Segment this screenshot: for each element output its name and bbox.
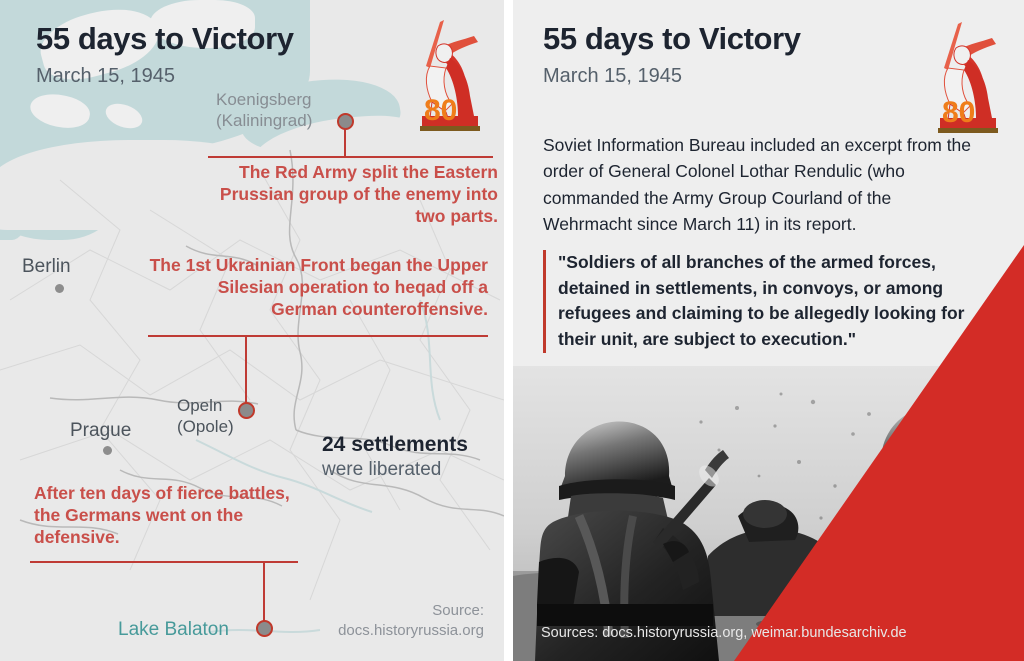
- city-label-opeln: Opeln (Opole): [177, 396, 234, 437]
- page-date: March 15, 1945: [36, 65, 294, 87]
- leader-line-horizontal-upper-silesia: [148, 335, 488, 337]
- map-marker-lake-balaton[interactable]: [256, 620, 273, 637]
- svg-text:80: 80: [942, 96, 975, 129]
- annotation-east-prussia: The Red Army split the Eastern Prussian …: [200, 162, 498, 228]
- stat-settlements: 24 settlements were liberated: [322, 432, 468, 482]
- leader-line-vertical-balaton: [263, 562, 265, 622]
- annotation-east-prussia-text: The Red Army split the Eastern Prussian …: [200, 162, 498, 228]
- motherland-calls-80-anniversary-logo: 80: [918, 18, 1004, 136]
- order-quote: "Soldiers of all branches of the armed f…: [543, 250, 988, 353]
- stat-caption: were liberated: [322, 458, 468, 483]
- infographic-board: 55 days to Victory March 15, 1945 80 Koe…: [0, 0, 1024, 661]
- city-label-koenigsberg: Koenigsberg (Kaliningrad): [216, 90, 312, 131]
- city-name-primary: Prague: [70, 419, 131, 442]
- left-panel-map: 55 days to Victory March 15, 1945 80 Koe…: [0, 0, 504, 661]
- leader-line-vertical-upper-silesia: [245, 336, 247, 404]
- leader-line-horizontal-east-prussia: [208, 156, 493, 158]
- leader-line-vertical-east-prussia: [344, 128, 346, 158]
- left-source-attribution: Source: docs.historyrussia.org: [338, 601, 484, 642]
- map-dot-prague: [103, 446, 112, 455]
- city-name-primary: Koenigsberg: [216, 90, 312, 111]
- leader-line-horizontal-balaton: [30, 561, 298, 563]
- annotation-upper-silesia: The 1st Ukrainian Front began the Upper …: [148, 255, 488, 321]
- right-panel-text: 55 days to Victory March 15, 1945 80 Sov…: [513, 0, 1024, 661]
- report-body-text: Soviet Information Bureau included an ex…: [543, 132, 983, 237]
- page-title: 55 days to Victory: [543, 22, 801, 56]
- water-body-name: Lake Balaton: [118, 618, 229, 641]
- right-sources-attribution[interactable]: Sources: docs.historyrussia.org, weimar.…: [541, 625, 907, 641]
- svg-text:80: 80: [424, 94, 457, 127]
- annotation-upper-silesia-text: The 1st Ukrainian Front began the Upper …: [148, 255, 488, 321]
- annotation-balaton-text: After ten days of fierce battles, the Ge…: [34, 483, 296, 549]
- panel-gutter: [504, 0, 513, 661]
- city-label-lake-balaton: Lake Balaton: [118, 618, 229, 641]
- annotation-balaton: After ten days of fierce battles, the Ge…: [34, 483, 296, 549]
- stat-headline: 24 settlements: [322, 432, 468, 458]
- map-marker-opeln[interactable]: [238, 402, 255, 419]
- left-header: 55 days to Victory March 15, 1945: [36, 22, 294, 87]
- city-label-prague: Prague: [70, 419, 131, 442]
- city-name-primary: Opeln: [177, 396, 234, 417]
- city-name-primary: Berlin: [22, 255, 71, 278]
- city-name-secondary: (Opole): [177, 417, 234, 438]
- source-label: Source:: [338, 601, 484, 621]
- source-url[interactable]: docs.historyrussia.org: [338, 621, 484, 641]
- map-dot-berlin: [55, 284, 64, 293]
- right-header: 55 days to Victory March 15, 1945: [543, 22, 801, 87]
- page-title: 55 days to Victory: [36, 22, 294, 56]
- city-label-berlin: Berlin: [22, 255, 71, 278]
- city-name-secondary: (Kaliningrad): [216, 111, 312, 132]
- page-date: March 15, 1945: [543, 65, 801, 87]
- motherland-calls-80-anniversary-logo: 80: [400, 16, 486, 134]
